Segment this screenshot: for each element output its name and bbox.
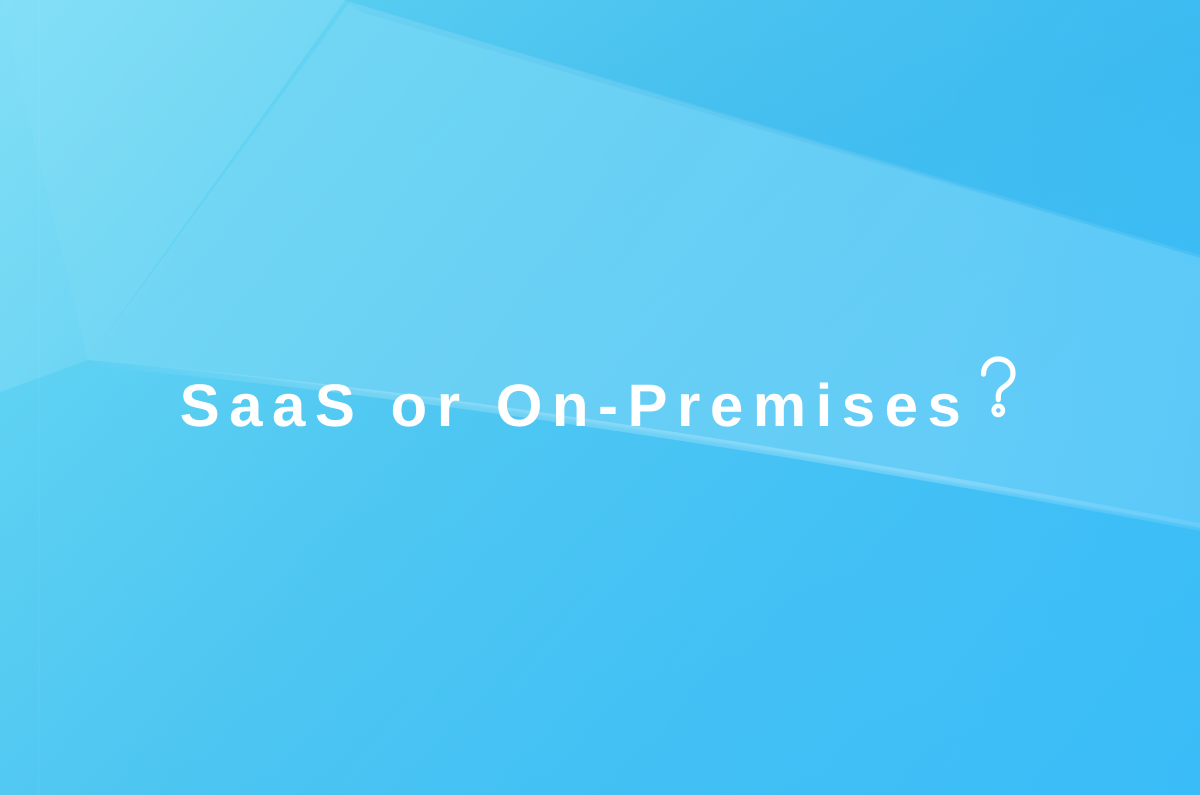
page-title-text: SaaS or On-Premises	[180, 376, 971, 436]
facet-top-right-dark-band	[345, 0, 1200, 258]
slide-canvas: SaaS or On-Premises	[0, 0, 1200, 795]
page-title: SaaS or On-Premises	[180, 364, 1021, 436]
facet-mid-sweep-band	[0, 0, 1200, 528]
question-mark-icon	[976, 356, 1020, 418]
facet-sweep-upper-light	[88, 2, 1200, 527]
facet-upper-left-light-wedge	[0, 0, 345, 392]
facet-left-seam	[38, 0, 40, 795]
question-mark-glyph	[976, 356, 1020, 418]
headline-container: SaaS or On-Premises	[0, 0, 1200, 795]
